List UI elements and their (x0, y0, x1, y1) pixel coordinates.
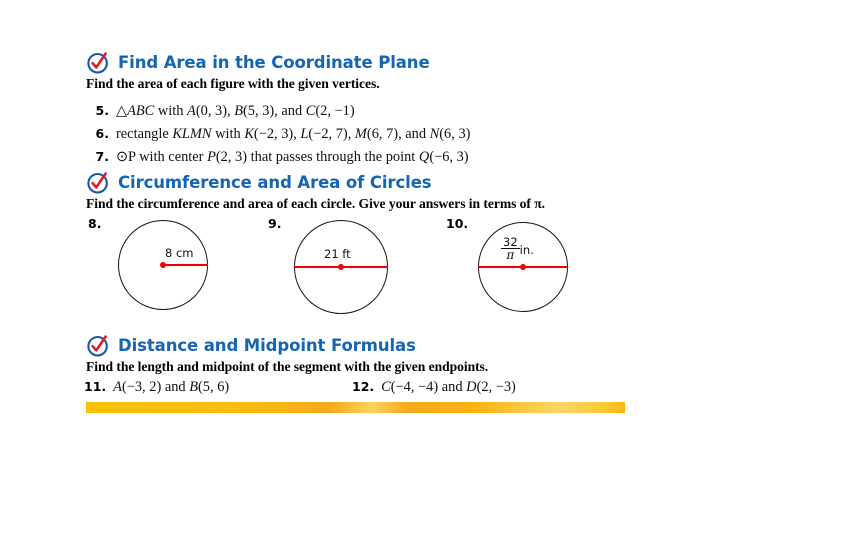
figure-circle-10: 10. 32 π in. (446, 214, 616, 314)
section-heading-area-coordinate-plane: Find Area in the Coordinate Plane (86, 50, 430, 75)
bottom-gold-rule (86, 402, 625, 413)
radius-segment (163, 264, 208, 266)
exercise-text: rectangle KLMN with K(−2, 3), L(−2, 7), … (116, 126, 470, 143)
section-heading-circumference-area-circles: Circumference and Area of Circles (86, 170, 432, 195)
section-directions: Find the area of each figure with the gi… (86, 76, 380, 92)
exercise-number: 6. (92, 126, 109, 141)
figure-circle-9: 9. 21 ft (268, 214, 438, 314)
section-directions: Find the circumference and area of each … (86, 196, 545, 212)
fraction: 32 π (501, 236, 520, 262)
exercise-text: C(−4, −4) and D(2, −3) (381, 379, 516, 396)
circle-figure: 8 cm (118, 220, 208, 310)
exercise-text: ⊙P with center P(2, 3) that passes throu… (116, 149, 469, 166)
exercise-item-5: 5. △ABC with A(0, 3), B(5, 3), and C(2, … (92, 103, 355, 120)
exercise-number: 7. (92, 149, 109, 164)
exercise-number: 12. (352, 379, 374, 394)
figure-number: 8. (88, 216, 101, 231)
figure-number: 9. (268, 216, 281, 231)
exercise-text: A(−3, 2) and B(5, 6) (113, 379, 229, 396)
figure-circle-8: 8. 8 cm (88, 214, 258, 314)
measure-label: 8 cm (165, 246, 194, 260)
circle-figure: 21 ft (294, 220, 388, 314)
exercise-item-7: 7. ⊙P with center P(2, 3) that passes th… (92, 149, 469, 166)
section-title: Distance and Midpoint Formulas (118, 336, 416, 355)
figure-number: 10. (446, 216, 468, 231)
exercise-text: △ABC with A(0, 3), B(5, 3), and C(2, −1) (116, 103, 355, 120)
fraction-denominator: π (501, 249, 520, 262)
exercise-item-6: 6. rectangle KLMN with K(−2, 3), L(−2, 7… (92, 126, 470, 143)
circle-figure: 32 π in. (478, 222, 568, 312)
measure-unit: in. (520, 243, 534, 257)
measure-label: 21 ft (324, 247, 351, 261)
exercise-number: 11. (84, 379, 106, 394)
exercise-item-12: 12. C(−4, −4) and D(2, −3) (352, 379, 516, 396)
section-title: Find Area in the Coordinate Plane (118, 53, 430, 72)
check-circle-icon (86, 50, 111, 75)
section-title: Circumference and Area of Circles (118, 173, 432, 192)
check-circle-icon (86, 333, 111, 358)
check-circle-icon (86, 170, 111, 195)
measure-label-fraction: 32 π in. (501, 236, 534, 262)
section-directions: Find the length and midpoint of the segm… (86, 359, 488, 375)
worksheet-page: Find Area in the Coordinate Plane Find t… (0, 0, 864, 540)
section-heading-distance-midpoint-formulas: Distance and Midpoint Formulas (86, 333, 416, 358)
exercise-item-11: 11. A(−3, 2) and B(5, 6) (84, 379, 229, 396)
exercise-number: 5. (92, 103, 109, 118)
